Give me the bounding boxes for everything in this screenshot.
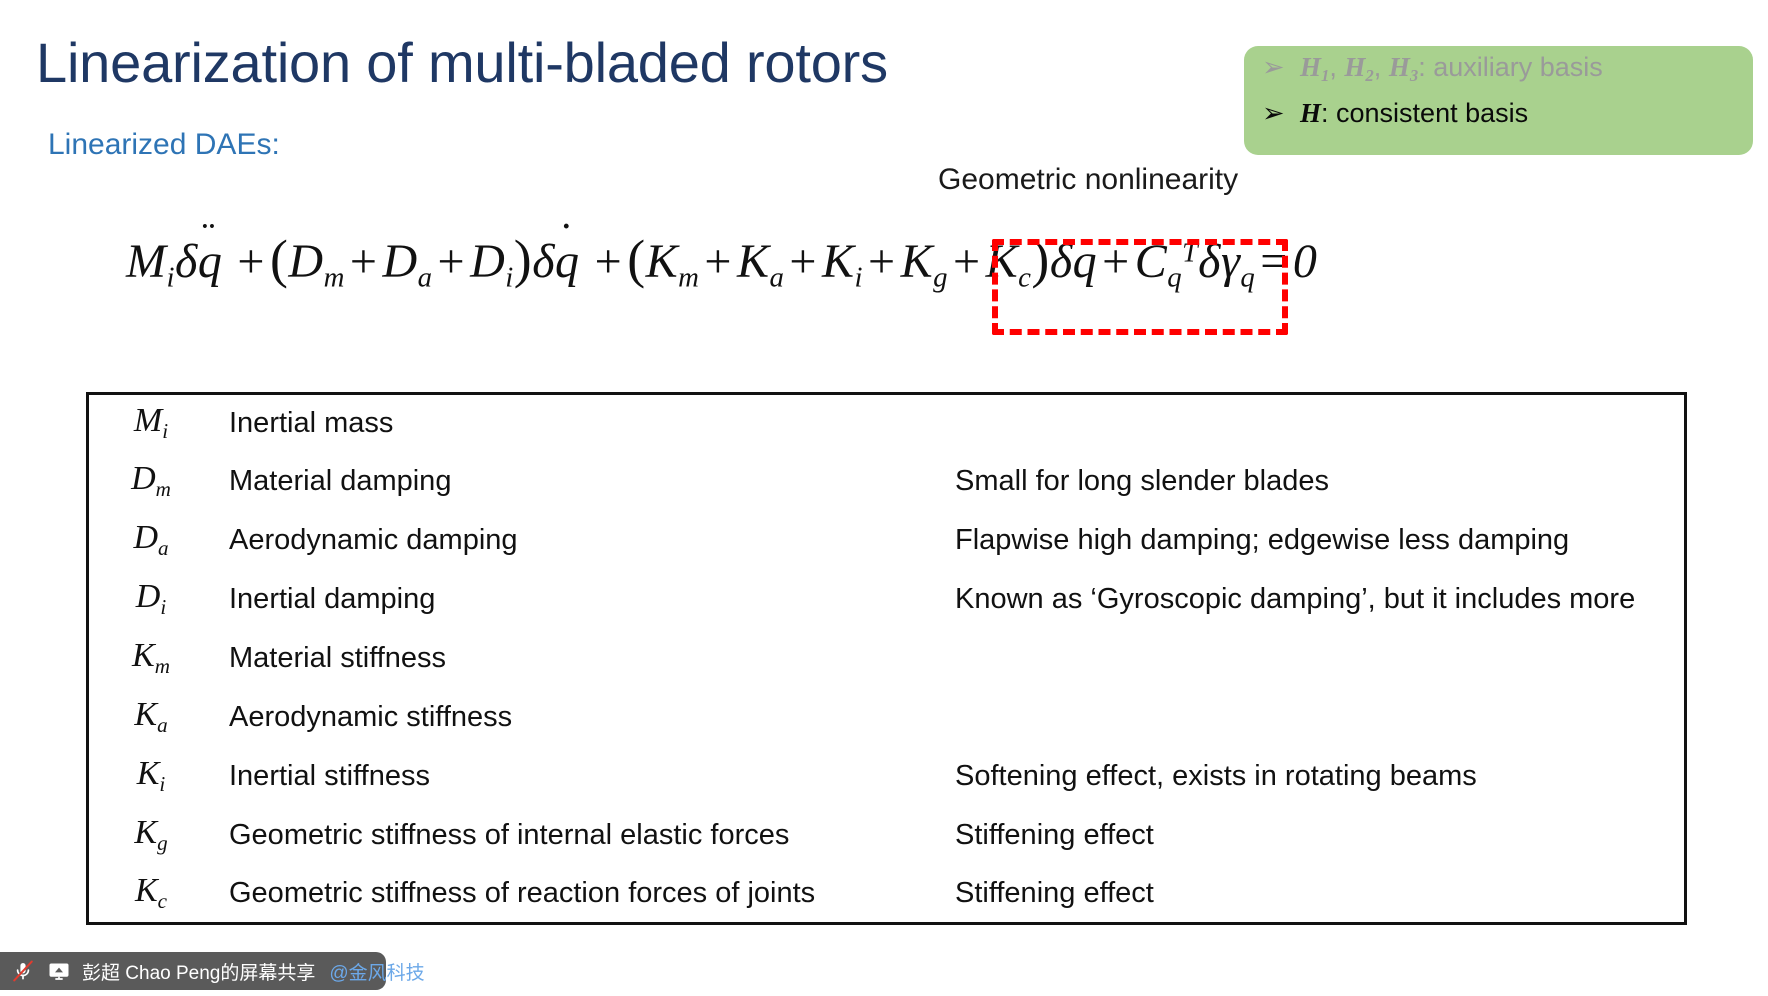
row-symbol-subscript: i bbox=[162, 419, 168, 443]
row-note: Flapwise high damping; edgewise less dam… bbox=[955, 511, 1686, 570]
callout-auxiliary-suffix: : auxiliary basis bbox=[1418, 52, 1603, 82]
table-row: Di Inertial damping Known as ‘Gyroscopic… bbox=[88, 570, 1686, 629]
row-symbol: Kg bbox=[88, 806, 214, 865]
geometric-nonlinearity-label: Geometric nonlinearity bbox=[938, 163, 1238, 197]
row-symbol-subscript: a bbox=[158, 536, 169, 560]
row-symbol-subscript: a bbox=[157, 713, 168, 737]
bullet-arrow-icon: ➢ bbox=[1262, 54, 1300, 81]
row-name: Material stiffness bbox=[213, 629, 955, 688]
row-symbol: Kc bbox=[88, 865, 214, 924]
table-row: Dm Material damping Small for long slend… bbox=[88, 452, 1686, 511]
section-subtitle: Linearized DAEs: bbox=[48, 128, 280, 162]
row-note bbox=[955, 629, 1686, 688]
callout-consistent-suffix: : consistent basis bbox=[1321, 98, 1528, 128]
microphone-muted-icon[interactable] bbox=[10, 958, 36, 984]
row-symbol: Dm bbox=[88, 452, 214, 511]
row-note: Stiffening effect bbox=[955, 865, 1686, 924]
screen-share-status-bar[interactable]: 彭超 Chao Peng的屏幕共享 @金风科技 bbox=[0, 952, 386, 990]
row-symbol: Ka bbox=[88, 688, 214, 747]
consistent-basis-symbol: H bbox=[1300, 98, 1321, 128]
row-note bbox=[955, 688, 1686, 747]
presenter-label: 彭超 Chao Peng的屏幕共享 bbox=[82, 958, 315, 985]
page-title: Linearization of multi-bladed rotors bbox=[36, 34, 888, 93]
row-symbol-subscript: m bbox=[155, 654, 170, 678]
row-symbol-subscript: g bbox=[157, 831, 168, 855]
table-row: Mi Inertial mass bbox=[88, 394, 1686, 452]
row-note: Stiffening effect bbox=[955, 806, 1686, 865]
row-symbol-subscript: m bbox=[156, 477, 171, 501]
table-row: Ki Inertial stiffness Softening effect, … bbox=[88, 747, 1686, 806]
linearized-dae-equation: Miδq +(Dm+Da+Di)δq +(Km+Ka+Ki+Kg+Kc)δq+C… bbox=[126, 228, 1317, 295]
row-symbol: Da bbox=[88, 511, 214, 570]
bullet-arrow-icon: ➢ bbox=[1262, 100, 1300, 127]
row-name: Aerodynamic stiffness bbox=[213, 688, 955, 747]
callout-item-auxiliary-basis: ➢ H1, H2, H3: auxiliary basis bbox=[1244, 54, 1753, 100]
table-row: Kc Geometric stiffness of reaction force… bbox=[88, 865, 1686, 924]
row-note: Small for long slender blades bbox=[955, 452, 1686, 511]
callout-item-consistent-basis: ➢ H: consistent basis bbox=[1244, 100, 1753, 146]
row-name: Geometric stiffness of internal elastic … bbox=[213, 806, 955, 865]
row-name: Material damping bbox=[213, 452, 955, 511]
screen-share-icon[interactable] bbox=[46, 958, 72, 984]
table-row: Ka Aerodynamic stiffness bbox=[88, 688, 1686, 747]
row-name: Inertial damping bbox=[213, 570, 955, 629]
slide-canvas: Linearization of multi-bladed rotors Lin… bbox=[0, 0, 1768, 996]
basis-callout-box: ➢ H1, H2, H3: auxiliary basis ➢ H: consi… bbox=[1244, 46, 1753, 155]
callout-item-consistent-basis-label: H: consistent basis bbox=[1300, 100, 1528, 127]
row-symbol: Di bbox=[88, 570, 214, 629]
row-symbol: Mi bbox=[88, 394, 214, 452]
row-note bbox=[955, 394, 1686, 452]
row-symbol: Ki bbox=[88, 747, 214, 806]
row-symbol-subscript: c bbox=[158, 889, 167, 913]
table-row: Da Aerodynamic damping Flapwise high dam… bbox=[88, 511, 1686, 570]
row-symbol-subscript: i bbox=[159, 772, 165, 796]
symbol-description-table: Mi Inertial mass Dm Material damping Sma… bbox=[86, 392, 1687, 925]
row-name: Inertial stiffness bbox=[213, 747, 955, 806]
row-name: Geometric stiffness of reaction forces o… bbox=[213, 865, 955, 924]
row-note: Softening effect, exists in rotating bea… bbox=[955, 747, 1686, 806]
row-note: Known as ‘Gyroscopic damping’, but it in… bbox=[955, 570, 1686, 629]
row-symbol: Km bbox=[88, 629, 214, 688]
row-symbol-subscript: i bbox=[160, 595, 166, 619]
row-name: Aerodynamic damping bbox=[213, 511, 955, 570]
table-row: Kg Geometric stiffness of internal elast… bbox=[88, 806, 1686, 865]
callout-item-auxiliary-basis-label: H1, H2, H3: auxiliary basis bbox=[1300, 54, 1603, 85]
company-label: @金风科技 bbox=[329, 958, 424, 985]
row-name: Inertial mass bbox=[213, 394, 955, 452]
table-row: Km Material stiffness bbox=[88, 629, 1686, 688]
